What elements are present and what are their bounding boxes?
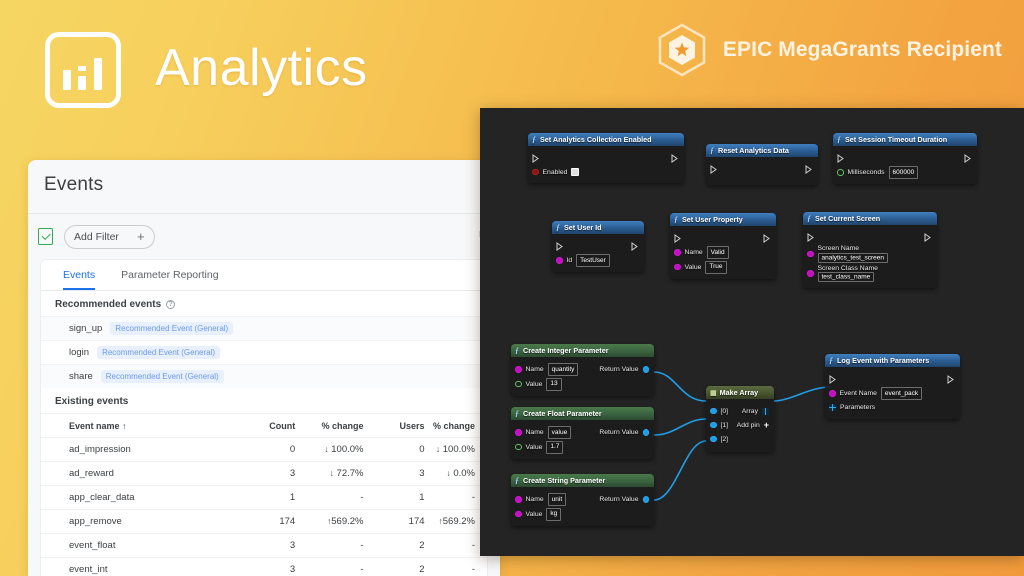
array-icon: ▦ xyxy=(710,389,716,397)
cell-count-change: ↓ 72.7% xyxy=(295,462,375,486)
column-count[interactable]: Count xyxy=(237,414,295,438)
node-reset-analytics-data[interactable]: ƒ Reset Analytics Data xyxy=(706,144,818,185)
exec-out-icon[interactable] xyxy=(964,154,972,163)
pin-label: Screen Name xyxy=(818,245,889,252)
tab-events[interactable]: Events xyxy=(63,269,95,290)
cell-users-change: - xyxy=(425,486,487,510)
function-icon: ƒ xyxy=(837,135,841,144)
table-row[interactable]: event_int 3 - 2 - xyxy=(41,558,487,576)
value-field[interactable]: kg xyxy=(546,508,561,521)
function-icon: ƒ xyxy=(674,215,678,224)
pin-row-milliseconds: Milliseconds 600000 xyxy=(837,166,972,179)
cell-event-name: app_clear_data xyxy=(41,486,237,510)
name-field[interactable]: Valid xyxy=(707,246,729,259)
function-icon: ƒ xyxy=(532,135,536,144)
pin-label: Name xyxy=(526,366,544,373)
pin-row-value: Value kg xyxy=(515,508,649,521)
value-field[interactable]: True xyxy=(705,261,726,274)
table-row[interactable]: app_clear_data 1 - 1 - xyxy=(41,486,487,510)
exec-out-icon[interactable] xyxy=(671,154,679,163)
recommended-events-heading: Recommended events ? xyxy=(41,291,487,316)
table-row[interactable]: event_float 3 - 2 - xyxy=(41,534,487,558)
float-pin-icon[interactable] xyxy=(515,444,522,451)
cell-count-change: - xyxy=(295,534,375,558)
epic-megagrants-badge: EPIC MegaGrants Recipient xyxy=(654,22,1002,78)
function-icon: ƒ xyxy=(807,214,811,223)
node-title: ƒ Set User Property xyxy=(670,213,776,226)
name-field[interactable]: quantity xyxy=(548,363,579,376)
node-set-analytics-collection-enabled[interactable]: ƒ Set Analytics Collection Enabled Enabl… xyxy=(528,133,684,183)
function-icon: ƒ xyxy=(556,223,560,232)
node-log-event-with-parameters[interactable]: ƒ Log Event with Parameters Event Name e… xyxy=(825,354,960,419)
cell-count: 0 xyxy=(237,438,295,462)
cell-count: 174 xyxy=(237,510,295,534)
tab-parameter-reporting[interactable]: Parameter Reporting xyxy=(121,269,218,290)
pin-row-0: [0] Array xyxy=(710,405,769,417)
pin-label: Value xyxy=(685,264,702,271)
events-heading: Events xyxy=(44,174,500,196)
function-icon: ƒ xyxy=(829,356,833,365)
pin-label: Value xyxy=(526,444,543,451)
array-out-label: Array xyxy=(742,408,758,415)
pin-row-screen-class-name: Screen Class Name test_class_name xyxy=(807,265,932,283)
return-value-label: Return Value xyxy=(599,366,638,373)
column-users-change[interactable]: % change xyxy=(425,414,487,438)
list-item[interactable]: login Recommended Event (General) xyxy=(41,340,487,364)
node-title: ƒ Set Session Timeout Duration xyxy=(833,133,977,146)
pin-row-name: Name unit Return Value xyxy=(515,493,649,506)
pin-row-event-name: Event Name event_pack xyxy=(829,387,955,400)
cell-users-change: - xyxy=(425,534,487,558)
exec-in-icon[interactable] xyxy=(829,375,837,384)
exec-in-icon[interactable] xyxy=(807,233,815,242)
exec-pin-row xyxy=(837,152,972,164)
node-title: ▦ Make Array xyxy=(706,386,774,399)
cell-count: 3 xyxy=(237,534,295,558)
column-event-name[interactable]: Event name ↑ xyxy=(41,414,237,438)
analytics-events-card: Events Add Filter + Las Events Parameter… xyxy=(28,160,500,576)
cell-users: 174 xyxy=(375,510,424,534)
value-field[interactable]: 1.7 xyxy=(546,441,563,454)
string-pin-icon[interactable] xyxy=(807,251,814,258)
epic-hexagon-star-icon xyxy=(654,22,710,78)
page-title: Analytics xyxy=(155,38,368,98)
exec-pin-row xyxy=(807,231,932,243)
node-title: ƒ Set User Id xyxy=(552,221,644,234)
pin-row-enabled: Enabled xyxy=(532,166,679,178)
plus-icon: + xyxy=(137,230,145,243)
exec-pin-row xyxy=(532,152,679,164)
string-pin-icon[interactable] xyxy=(807,270,814,277)
enabled-checkbox[interactable] xyxy=(571,168,579,176)
screen-class-name-field[interactable]: test_class_name xyxy=(818,272,875,282)
analytics-bar-chart-icon xyxy=(45,32,121,108)
pin-label: Value xyxy=(526,511,543,518)
events-panel: Events Parameter Reporting Recommended e… xyxy=(40,259,488,576)
add-pin-label[interactable]: Add pin xyxy=(737,422,760,429)
cell-users: 3 xyxy=(375,462,424,486)
exec-pin-row xyxy=(829,373,955,385)
blueprint-graph-panel[interactable]: ƒ Set Analytics Collection Enabled Enabl… xyxy=(480,108,1024,556)
event-name: sign_up xyxy=(69,323,102,334)
int-pin-icon[interactable] xyxy=(515,381,522,388)
node-set-user-id[interactable]: ƒ Set User Id Id TestUser xyxy=(552,221,644,272)
string-pin-icon[interactable] xyxy=(556,257,563,264)
array-element-pin-icon[interactable] xyxy=(710,422,717,429)
exec-out-icon[interactable] xyxy=(763,234,771,243)
cell-count-change: ↑569.2% xyxy=(295,510,375,534)
table-row[interactable]: ad_impression 0 ↓ 100.0% 0 ↓ 100.0% xyxy=(41,438,487,462)
function-icon: ƒ xyxy=(515,409,519,418)
existing-events-heading: Existing events xyxy=(41,388,487,413)
list-item[interactable]: share Recommended Event (General) xyxy=(41,364,487,388)
exec-out-icon[interactable] xyxy=(924,233,932,242)
status-badge: Recommended Event (General) xyxy=(97,346,220,359)
pin-row-name: Name Valid xyxy=(674,246,771,259)
pin-label: Milliseconds xyxy=(848,169,885,176)
recommended-events-label: Recommended events xyxy=(55,299,161,310)
node-title: ƒ Set Analytics Collection Enabled xyxy=(528,133,684,146)
pin-label: Event Name xyxy=(840,390,877,397)
node-title: ƒ Create Integer Parameter xyxy=(511,344,654,357)
node-set-user-property[interactable]: ƒ Set User Property Name Valid Value Tru… xyxy=(670,213,776,279)
id-field[interactable]: TestUser xyxy=(576,254,610,267)
string-pin-icon[interactable] xyxy=(515,511,522,518)
pin-label: Screen Class Name xyxy=(818,265,878,272)
status-badge: Recommended Event (General) xyxy=(110,322,233,335)
string-pin-icon[interactable] xyxy=(515,496,522,503)
cell-event-name: ad_reward xyxy=(41,462,237,486)
name-field[interactable]: value xyxy=(548,426,572,439)
filter-bar: Add Filter + Las xyxy=(28,214,500,259)
exec-in-icon[interactable] xyxy=(710,165,718,174)
string-pin-icon[interactable] xyxy=(829,390,836,397)
node-title: ƒ Reset Analytics Data xyxy=(706,144,818,157)
string-pin-icon[interactable] xyxy=(515,429,522,436)
cell-count: 1 xyxy=(237,486,295,510)
exec-pin-row xyxy=(710,163,813,175)
column-count-change[interactable]: % change xyxy=(295,414,375,438)
help-circle-icon[interactable]: ? xyxy=(166,300,175,309)
function-icon: ƒ xyxy=(515,346,519,355)
exec-out-icon[interactable] xyxy=(947,375,955,384)
list-item[interactable]: sign_up Recommended Event (General) xyxy=(41,316,487,340)
exec-out-icon[interactable] xyxy=(631,242,639,251)
table-header-row: Event name ↑ Count % change Users % chan… xyxy=(41,414,487,438)
pin-row-1: [1] Add pin + xyxy=(710,419,769,431)
cell-count: 3 xyxy=(237,558,295,576)
pin-label: Name xyxy=(685,249,703,256)
pin-row-screen-name: Screen Name analytics_test_screen xyxy=(807,245,932,263)
function-icon: ƒ xyxy=(710,146,714,155)
array-element-pin-icon[interactable] xyxy=(710,436,717,443)
cell-event-name: ad_impression xyxy=(41,438,237,462)
event-name-field[interactable]: event_pack xyxy=(881,387,922,400)
pin-label: Name xyxy=(526,429,544,436)
node-title: ƒ Create Float Parameter xyxy=(511,407,654,420)
pin-row-id: Id TestUser xyxy=(556,254,639,267)
node-set-current-screen[interactable]: ƒ Set Current Screen Screen Name analyti… xyxy=(803,212,937,288)
cell-event-name: app_remove xyxy=(41,510,237,534)
node-set-session-timeout-duration[interactable]: ƒ Set Session Timeout Duration Milliseco… xyxy=(833,133,977,184)
cell-users-change: ↓ 100.0% xyxy=(425,438,487,462)
cell-users: 0 xyxy=(375,438,424,462)
tab-bar: Events Parameter Reporting xyxy=(41,260,487,291)
exec-in-icon[interactable] xyxy=(837,154,845,163)
exec-pin-row xyxy=(556,240,639,252)
sort-ascending-icon: ↑ xyxy=(122,421,126,431)
plus-icon[interactable]: + xyxy=(764,421,769,430)
add-filter-label: Add Filter xyxy=(74,231,119,243)
pin-row-name: Name value Return Value xyxy=(515,426,649,439)
pin-row-value: Value True xyxy=(674,261,771,274)
event-name: login xyxy=(69,347,89,358)
document-check-icon xyxy=(38,228,53,245)
status-badge: Recommended Event (General) xyxy=(101,370,224,383)
add-filter-button[interactable]: Add Filter + xyxy=(64,225,155,249)
name-field[interactable]: unit xyxy=(548,493,566,506)
array-element-pin-icon[interactable] xyxy=(710,408,717,415)
return-value-pin-icon[interactable] xyxy=(643,429,650,436)
pin-row-value: Value 13 xyxy=(515,378,649,391)
pin-row-name: Name quantity Return Value xyxy=(515,363,649,376)
exec-in-icon[interactable] xyxy=(674,234,682,243)
milliseconds-field[interactable]: 600000 xyxy=(889,166,919,179)
exec-in-icon[interactable] xyxy=(532,154,540,163)
pin-label: [1] xyxy=(721,422,729,429)
exec-out-icon[interactable] xyxy=(805,165,813,174)
array-out-pin-icon[interactable] xyxy=(762,408,769,415)
pin-label: Enabled xyxy=(543,169,568,176)
node-create-float-parameter[interactable]: ƒ Create Float Parameter Name value Retu… xyxy=(511,407,654,459)
cell-count-change: ↓ 100.0% xyxy=(295,438,375,462)
cell-users-change: ↑569.2% xyxy=(425,510,487,534)
node-make-array[interactable]: ▦ Make Array [0] Array [1] Add pin + [2] xyxy=(706,386,774,452)
cell-count-change: - xyxy=(295,558,375,576)
epic-badge-label: EPIC MegaGrants Recipient xyxy=(723,38,1002,62)
node-title: ƒ Set Current Screen xyxy=(803,212,937,225)
table-row[interactable]: app_remove 174 ↑569.2% 174 ↑569.2% xyxy=(41,510,487,534)
node-create-integer-parameter[interactable]: ƒ Create Integer Parameter Name quantity… xyxy=(511,344,654,396)
array-pin-icon[interactable] xyxy=(829,404,836,411)
pin-label: Name xyxy=(526,496,544,503)
string-pin-icon[interactable] xyxy=(674,249,681,256)
cell-users-change: - xyxy=(425,558,487,576)
bool-pin-icon[interactable] xyxy=(532,169,539,176)
cell-event-name: event_float xyxy=(41,534,237,558)
pin-row-value: Value 1.7 xyxy=(515,441,649,454)
event-name: share xyxy=(69,371,93,382)
node-title: ƒ Create String Parameter xyxy=(511,474,654,487)
return-value-label: Return Value xyxy=(599,429,638,436)
cell-users: 2 xyxy=(375,534,424,558)
cell-count-change: - xyxy=(295,486,375,510)
return-value-pin-icon[interactable] xyxy=(643,496,650,503)
pin-label: [0] xyxy=(721,408,729,415)
pin-label: Id xyxy=(567,257,573,264)
return-value-pin-icon[interactable] xyxy=(643,366,650,373)
cell-count: 3 xyxy=(237,462,295,486)
cell-event-name: event_int xyxy=(41,558,237,576)
node-create-string-parameter[interactable]: ƒ Create String Parameter Name unit Retu… xyxy=(511,474,654,526)
pin-label: Parameters xyxy=(840,404,875,411)
screen-name-field[interactable]: analytics_test_screen xyxy=(818,253,889,263)
string-pin-icon[interactable] xyxy=(515,366,522,373)
exec-pin-row xyxy=(674,232,771,244)
cell-users: 2 xyxy=(375,558,424,576)
cell-users: 1 xyxy=(375,486,424,510)
float-pin-icon[interactable] xyxy=(837,169,844,176)
table-row[interactable]: ad_reward 3 ↓ 72.7% 3 ↓ 0.0% xyxy=(41,462,487,486)
function-icon: ƒ xyxy=(515,476,519,485)
pin-label: Value xyxy=(526,381,543,388)
string-pin-icon[interactable] xyxy=(674,264,681,271)
card-header: Events xyxy=(28,160,500,214)
column-users[interactable]: Users xyxy=(375,414,424,438)
exec-in-icon[interactable] xyxy=(556,242,564,251)
cell-users-change: ↓ 0.0% xyxy=(425,462,487,486)
pin-label: [2] xyxy=(721,436,729,443)
pin-row-parameters: Parameters xyxy=(829,402,955,414)
return-value-label: Return Value xyxy=(599,496,638,503)
value-field[interactable]: 13 xyxy=(546,378,561,391)
pin-row-2: [2] xyxy=(710,433,769,445)
node-title: ƒ Log Event with Parameters xyxy=(825,354,960,367)
events-table: Event name ↑ Count % change Users % chan… xyxy=(41,413,487,576)
